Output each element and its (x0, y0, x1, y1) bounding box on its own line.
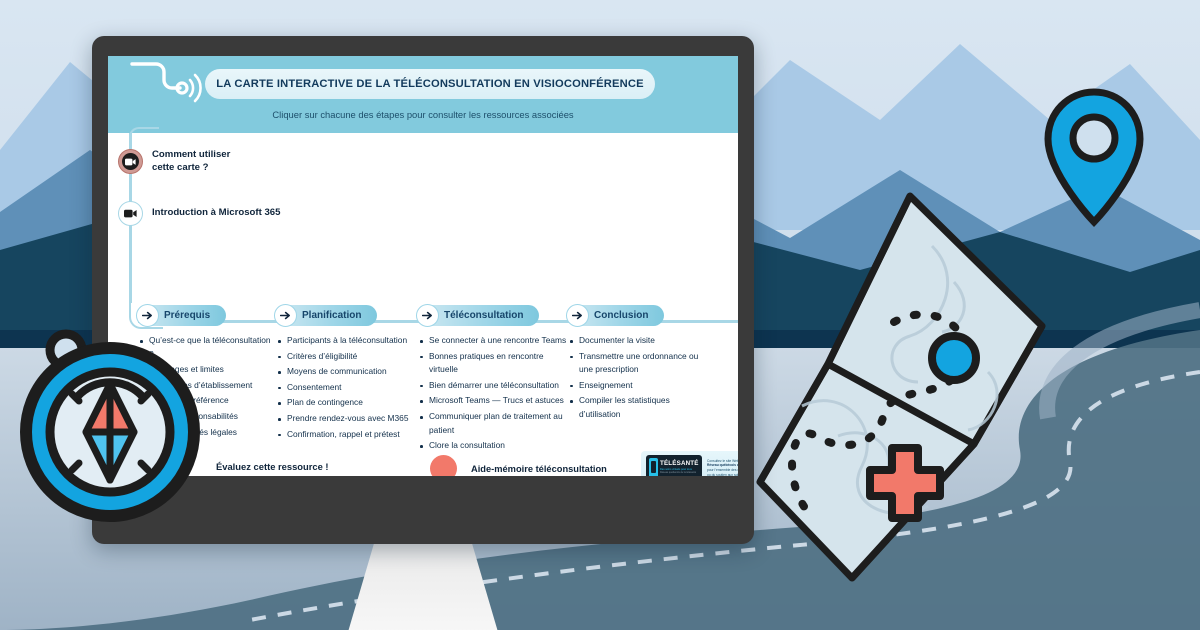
app-header: LA CARTE INTERACTIVE DE LA TÉLÉCONSULTAT… (108, 56, 738, 133)
arrow-right-icon (274, 304, 297, 327)
step-list-item[interactable]: Prendre rendez-vous avec M365 (276, 412, 418, 426)
step-list-item[interactable]: Documenter la visite (568, 334, 710, 348)
video-play-icon (118, 149, 143, 174)
app-title-pill: LA CARTE INTERACTIVE DE LA TÉLÉCONSULTAT… (205, 69, 655, 99)
aide-memoire-label: Aide-mémoire téléconsultation (471, 464, 607, 474)
step-list-item[interactable]: Transmettre une ordonnance ou une prescr… (568, 350, 710, 377)
rate-resource-link[interactable]: Évaluez cette ressource ! (216, 461, 329, 472)
step-list-item[interactable]: Enseignement (568, 379, 710, 393)
app-title: LA CARTE INTERACTIVE DE LA TÉLÉCONSULTAT… (216, 78, 643, 90)
aide-memoire-link[interactable]: Aide-mémoire téléconsultation (430, 455, 607, 476)
step-list-item[interactable]: Confirmation, rappel et prétest (276, 428, 418, 442)
step-list-item[interactable]: Moyens de communication (276, 365, 418, 379)
compass-illustration (14, 310, 210, 525)
step-list-item[interactable]: Plan de contingence (276, 396, 418, 410)
step-list-item[interactable]: Bien démarrer une téléconsultation (418, 379, 568, 393)
step-list-item[interactable]: Participants à la téléconsultation (276, 334, 418, 348)
step-list-item[interactable]: Se connecter à une rencontre Teams (418, 334, 568, 348)
telesante-copy: Consultez le site Web du Réseau québécoi… (707, 459, 738, 476)
step-pill-conclusion[interactable]: Conclusion (568, 305, 664, 326)
telesante-logo-subline: Réseau québécois de la télésanté (660, 472, 699, 474)
step-pill-planification[interactable]: Planification (276, 305, 377, 326)
coral-dot-icon (430, 455, 457, 476)
scene-stage: LA CARTE INTERACTIVE DE LA TÉLÉCONSULTAT… (0, 0, 1200, 630)
step-list-item[interactable]: Compiler les statistiques d’utilisation (568, 394, 710, 421)
arrow-right-icon (566, 304, 589, 327)
telesante-copy-line4: ou du soutien aux solutions en télésanté… (707, 473, 738, 476)
step-column-planification: Planification Participants à la télécons… (276, 305, 418, 443)
telesante-copy-line3: pour l’ensemble des documents et des out… (707, 468, 738, 473)
step-list-item[interactable]: Communiquer plan de traitement au patien… (418, 410, 568, 437)
step-item-list: Documenter la visite Transmettre une ord… (568, 334, 710, 422)
intro-link-label: Introduction à Microsoft 365 (152, 207, 280, 220)
telesante-logo-name: TÉLÉSANTÉ (660, 461, 699, 467)
phone-icon (649, 458, 658, 476)
step-list-item[interactable]: Critères d’éligibilité (276, 350, 418, 364)
step-column-conclusion: Conclusion Documenter la visite Transmet… (568, 305, 710, 424)
step-item-list: Participants à la téléconsultation Critè… (276, 334, 418, 441)
intro-link-introduction-m365[interactable]: Introduction à Microsoft 365 (118, 201, 280, 226)
step-title: Conclusion (594, 310, 648, 321)
step-list-item[interactable]: Bonnes pratiques en rencontre virtuelle (418, 350, 568, 377)
arrow-right-icon (416, 304, 439, 327)
step-title: Planification (302, 310, 361, 321)
wifi-signal-icon (130, 58, 208, 113)
step-item-list: Se connecter à une rencontre Teams Bonne… (418, 334, 568, 453)
intro-link-line1: Comment utiliser (152, 149, 230, 162)
step-list-item[interactable]: Consentement (276, 381, 418, 395)
step-column-teleconsultation: Téléconsultation Se connecter à une renc… (418, 305, 568, 455)
app-subtitle: Cliquer sur chacune des étapes pour cons… (108, 109, 738, 120)
video-camera-icon (118, 201, 143, 226)
telesante-logo: TÉLÉSANTÉ Des soins virtuels pour tous R… (646, 455, 702, 476)
intro-link-how-to-use[interactable]: Comment utiliser cette carte ? (118, 149, 230, 175)
telesante-copy-line2: Réseau québécois de la télésanté (707, 463, 738, 467)
telesante-banner[interactable]: TÉLÉSANTÉ Des soins virtuels pour tous R… (641, 451, 738, 476)
step-pill-teleconsultation[interactable]: Téléconsultation (418, 305, 539, 326)
step-title: Téléconsultation (444, 310, 523, 321)
map-destination-dot (932, 336, 976, 380)
step-list-item[interactable]: Microsoft Teams — Trucs et astuces (418, 394, 568, 408)
rail-top-curve (129, 127, 159, 143)
intro-link-line2: cette carte ? (152, 162, 230, 175)
intro-link-label: Comment utiliser cette carte ? (152, 149, 230, 175)
